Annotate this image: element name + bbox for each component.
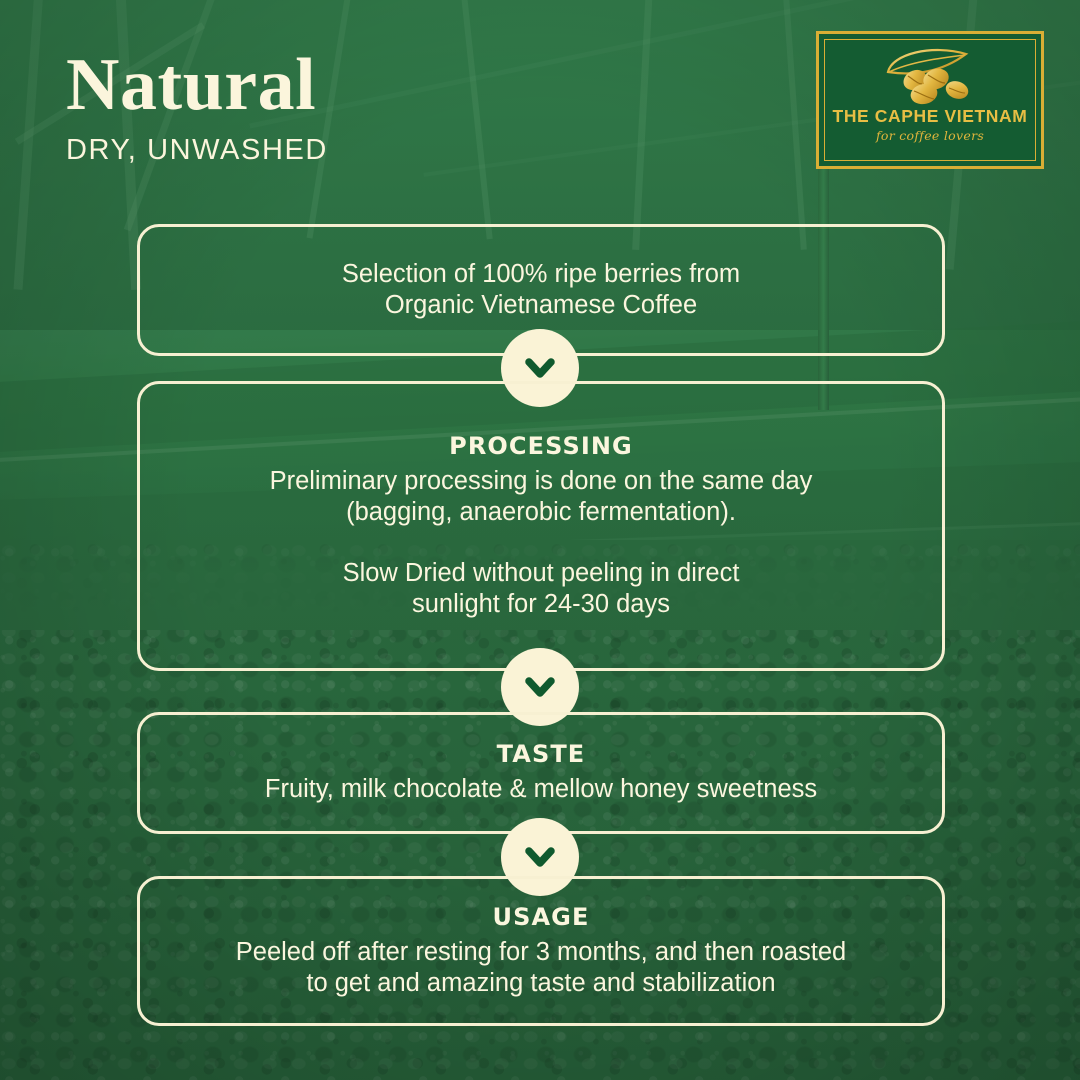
step-body-line: Fruity, milk chocolate & mellow honey sw… bbox=[265, 774, 817, 805]
step-body-line: Slow Dried without peeling in direct bbox=[343, 558, 740, 589]
step-heading: PROCESSING bbox=[449, 432, 633, 460]
logo-inner-frame: THE CAPHE VIETNAM for coffee lovers bbox=[824, 39, 1036, 161]
step-body-line: Peeled off after resting for 3 months, a… bbox=[236, 937, 847, 968]
logo-brand-name: THE CAPHE VIETNAM bbox=[833, 106, 1028, 127]
page-title: Natural bbox=[66, 50, 328, 120]
step-heading: USAGE bbox=[493, 903, 590, 931]
header: Natural DRY, UNWASHED bbox=[66, 50, 328, 167]
flow-step-taste: TASTE Fruity, milk chocolate & mellow ho… bbox=[137, 712, 945, 834]
page-subtitle: DRY, UNWASHED bbox=[66, 134, 328, 167]
step-body-line: to get and amazing taste and stabilizati… bbox=[306, 968, 775, 999]
flow-step-usage: USAGE Peeled off after resting for 3 mon… bbox=[137, 876, 945, 1026]
step-heading: TASTE bbox=[497, 740, 586, 768]
coffee-beans-leaf-icon bbox=[870, 46, 990, 108]
flow-step-processing: PROCESSING Preliminary processing is don… bbox=[137, 381, 945, 671]
brand-logo[interactable]: THE CAPHE VIETNAM for coffee lovers bbox=[816, 31, 1044, 169]
step-body-line: Selection of 100% ripe berries from bbox=[342, 259, 740, 290]
logo-tagline: for coffee lovers bbox=[876, 128, 984, 143]
step-body-line: Preliminary processing is done on the sa… bbox=[270, 466, 813, 497]
step-body-line: sunlight for 24-30 days bbox=[412, 589, 670, 620]
step-body-line: (bagging, anaerobic fermentation). bbox=[346, 497, 736, 528]
step-body-line: Organic Vietnamese Coffee bbox=[385, 290, 697, 321]
